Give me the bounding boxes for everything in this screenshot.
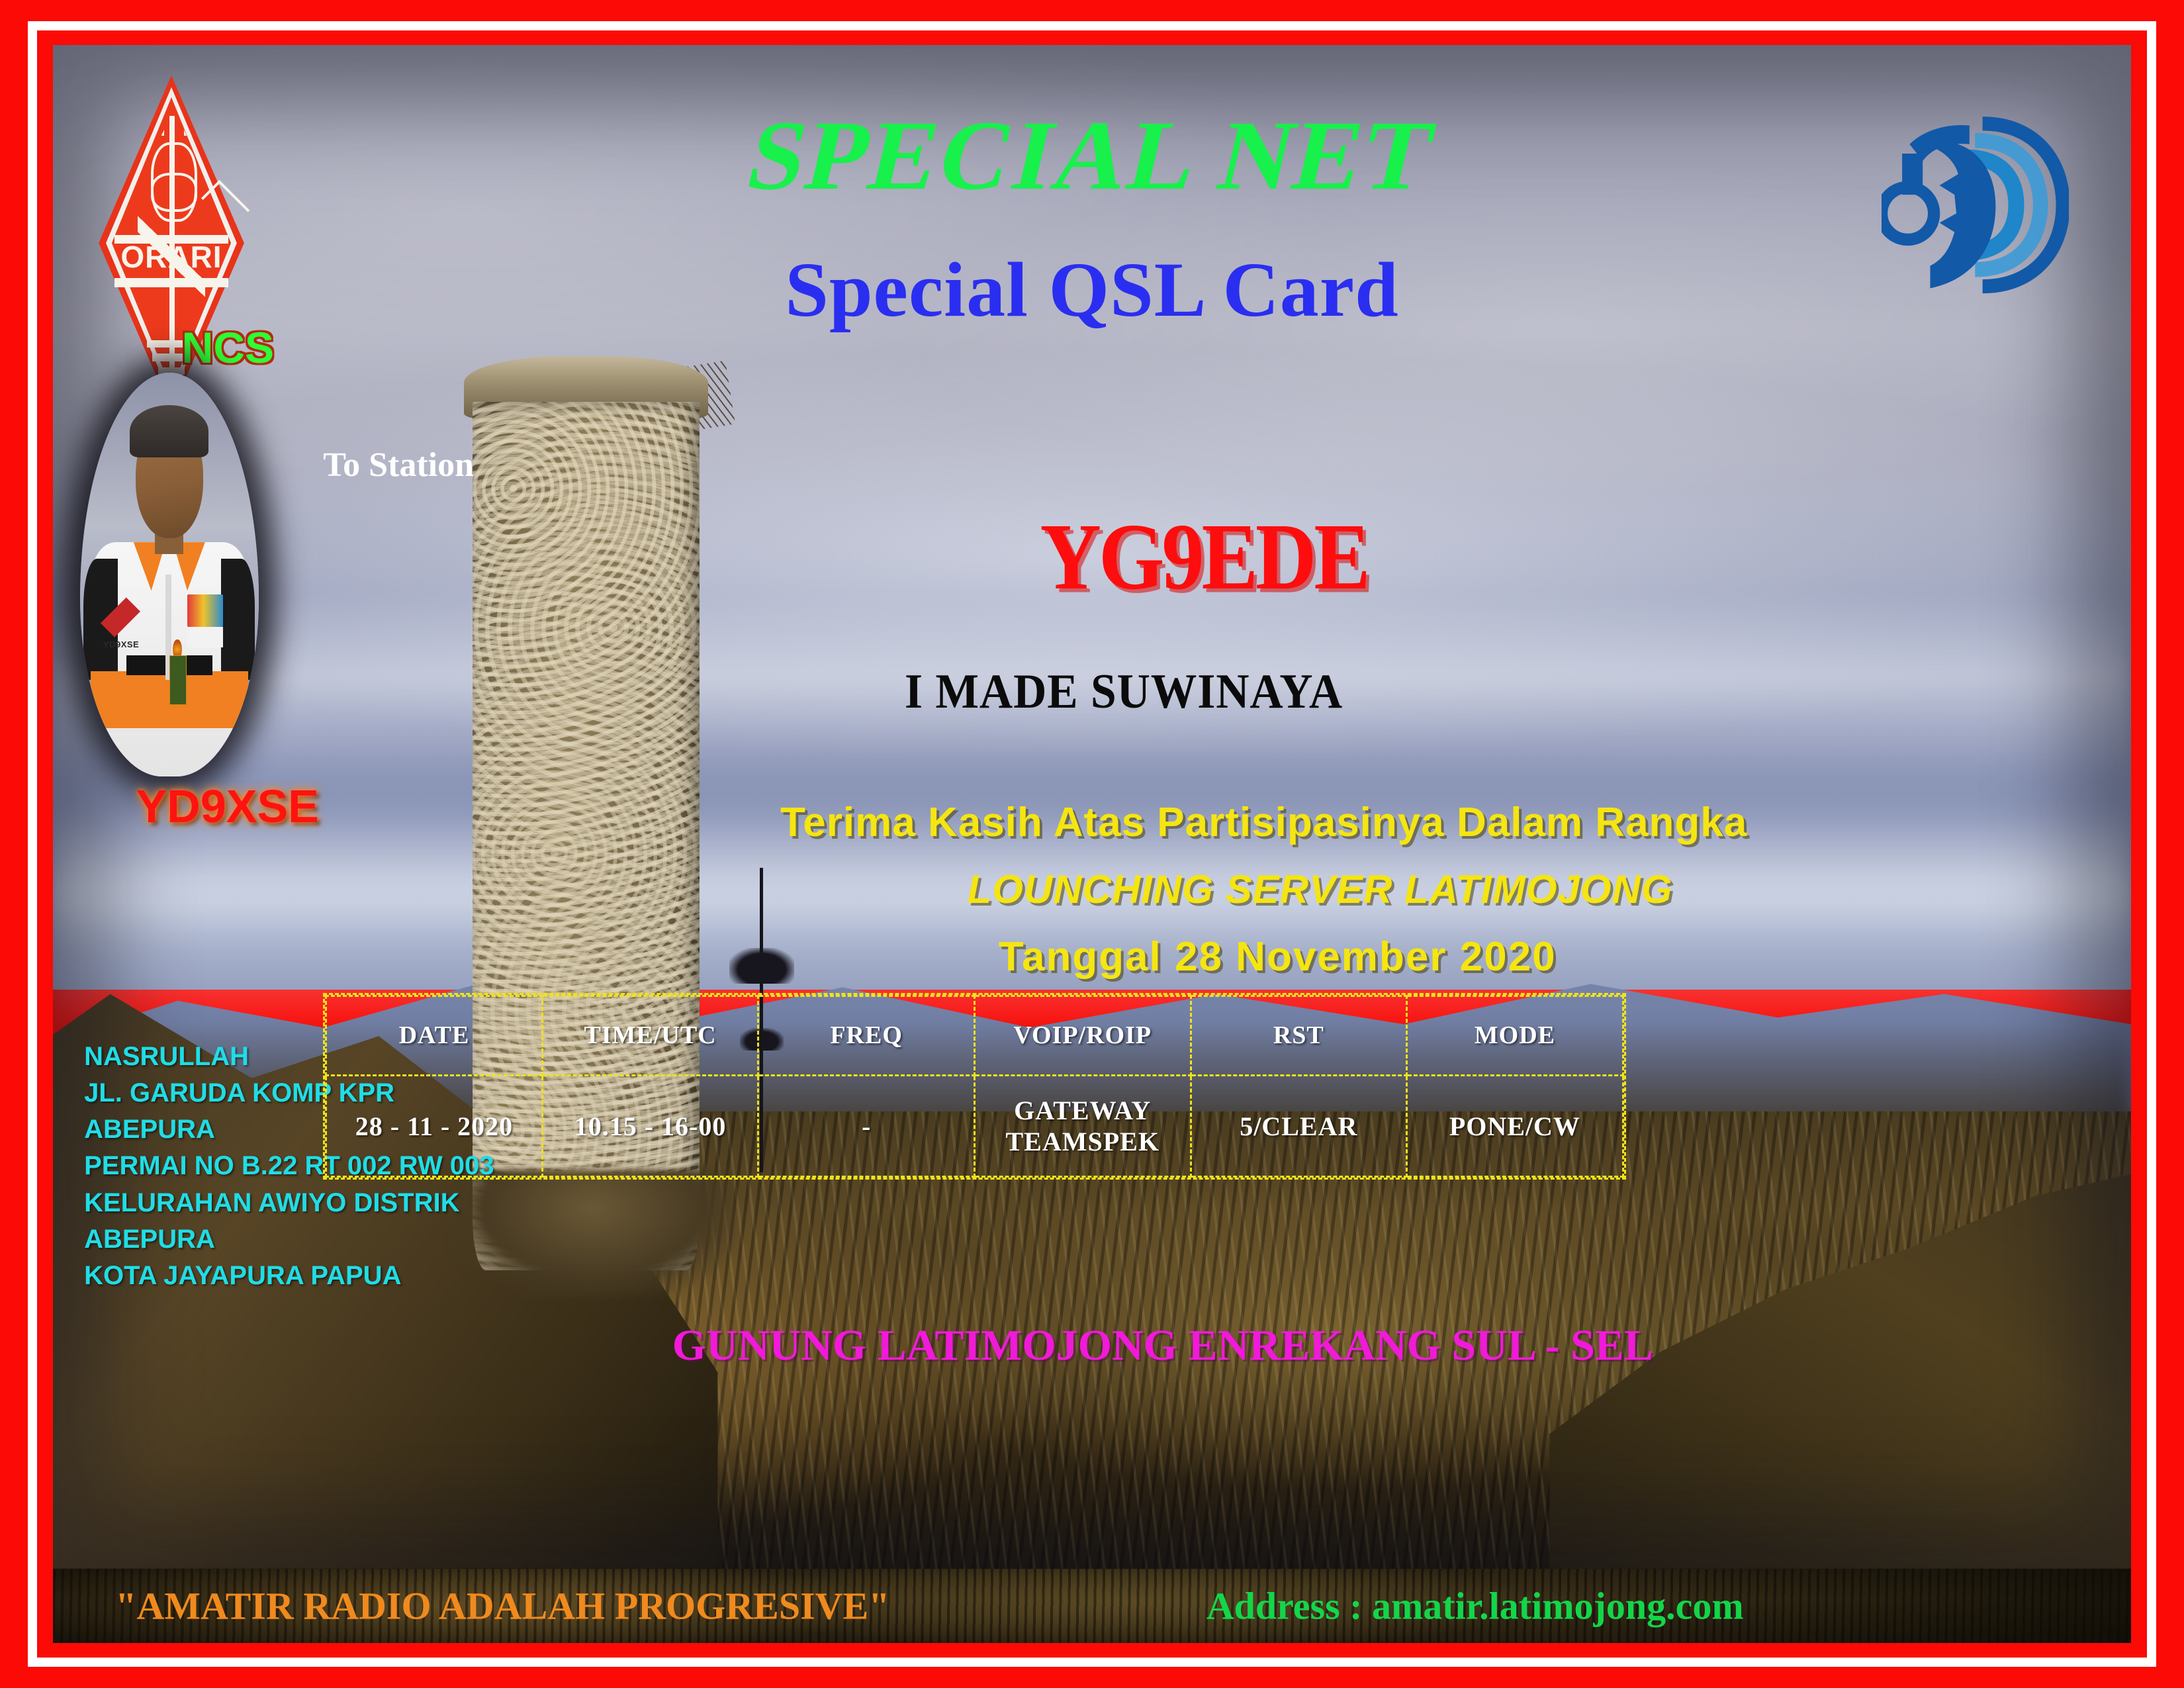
event-line: LOUNCHING SERVER LATIMOJONG [968, 867, 1673, 912]
to-station-label: To Station [323, 445, 474, 485]
table-row: 28 - 11 - 2020 10.15 - 16-00 - GATEWAY T… [326, 1076, 1623, 1177]
footer-strip: "AMATIR RADIO ADALAH PROGRESIVE" Address… [53, 1569, 2131, 1643]
ncs-id-tag [169, 655, 187, 705]
qso-table: DATE TIME/UTC FREQ VOIP/ROIP RST MODE 28… [323, 993, 1626, 1180]
ncs-photo: YD9XSE [80, 373, 259, 776]
title-special-net: SPECIAL NET [739, 106, 1445, 205]
column-header-voip: VOIP/ROIP [974, 996, 1191, 1075]
cell-time: 10.15 - 16-00 [542, 1076, 758, 1177]
qsl-card: ORARI SPECIAL NET Special QSL Card To St… [0, 0, 2184, 1688]
column-header-freq: FREQ [758, 996, 975, 1075]
address-line: ABEPURA [84, 1221, 494, 1258]
address-line: KOTA JAYAPURA PAPUA [84, 1258, 494, 1294]
table-header-row: DATE TIME/UTC FREQ VOIP/ROIP RST MODE [326, 996, 1623, 1075]
orari-band-bottom [114, 278, 228, 287]
cell-voip-line-1: GATEWAY [976, 1095, 1190, 1126]
ncs-shoulder-right [221, 559, 255, 680]
station-callsign: YG9EDE [1040, 502, 1368, 612]
column-header-date: DATE [326, 996, 543, 1075]
column-header-rst: RST [1191, 996, 1407, 1075]
operator-name: I MADE SUWINAYA [905, 664, 1343, 720]
orari-wordmark: ORARI [99, 242, 244, 279]
ncs-badge-right-lower [187, 627, 223, 647]
ncs-photo-oval: YD9XSE [80, 373, 259, 776]
footer-web-address: Address : amatir.latimojong.com [1206, 1584, 1744, 1628]
ncs-badge-right [187, 594, 223, 627]
cell-voip-line-2: TEAMSPEK [976, 1126, 1190, 1157]
ncs-label: NCS [182, 322, 274, 373]
column-header-time: TIME/UTC [542, 996, 758, 1075]
ncs-hair [130, 405, 208, 457]
cell-mode: PONE/CW [1407, 1076, 1623, 1177]
cell-rst: 5/CLEAR [1191, 1076, 1407, 1177]
thanks-line: Terima Kasih Atas Partisipasinya Dalam R… [780, 799, 1747, 846]
title-special-qsl-card: Special QSL Card [785, 251, 1398, 329]
radio-headset-logo [1882, 75, 2069, 334]
column-header-mode: MODE [1407, 996, 1623, 1075]
cell-date: 28 - 11 - 2020 [326, 1076, 543, 1177]
location-line: GUNUNG LATIMOJONG ENREKANG SUL - SEL [672, 1321, 1653, 1371]
address-line: KELURAHAN AWIYO DISTRIK [84, 1185, 494, 1221]
footer-slogan: "AMATIR RADIO ADALAH PROGRESIVE" [115, 1584, 889, 1628]
cell-freq: - [758, 1076, 975, 1177]
event-date-line: Tanggal 28 November 2020 [999, 933, 1557, 980]
card-photo-area: ORARI SPECIAL NET Special QSL Card To St… [53, 45, 2131, 1569]
ncs-uniform-patch-text: YD9XSE [103, 639, 146, 660]
cell-voip: GATEWAY TEAMSPEK [974, 1076, 1191, 1177]
ncs-callsign: YD9XSE [136, 780, 319, 833]
